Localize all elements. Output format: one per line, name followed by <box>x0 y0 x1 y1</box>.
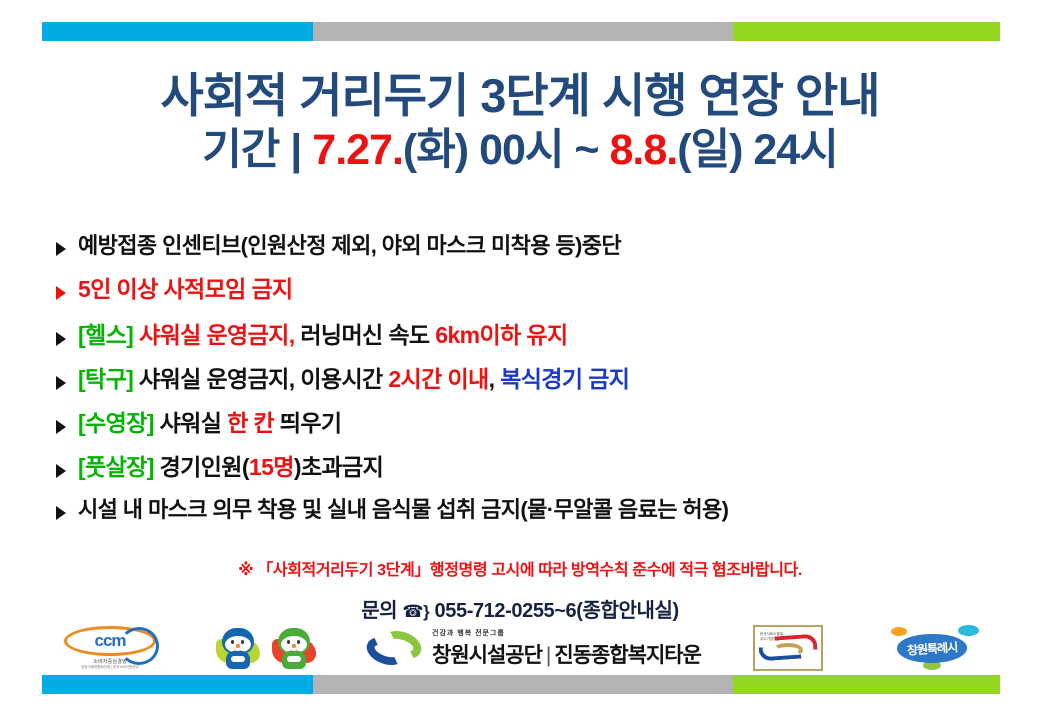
list-item: [풋살장] 경기인원(15명)초과금지 <box>56 448 986 482</box>
triangle-bullet-icon <box>56 332 66 346</box>
accent-segment-gray <box>313 675 733 694</box>
city-blob-icon: 창원특례시 <box>897 634 967 663</box>
ccm-caption-small: 공정거래위원회인증 | 한국소비자원운영 <box>64 665 156 670</box>
city-dot-orange <box>891 627 907 636</box>
text-segment: )초과금지 <box>294 454 383 480</box>
list-item-text: [헬스] 샤워실 운영금지, 러닝머신 속도 6km이하 유지 <box>78 316 568 350</box>
text-segment: 러닝머신 속도 <box>300 322 435 348</box>
list-item: 5인 이상 사적모임 금지 <box>56 270 986 304</box>
list-item: [수영장] 샤워실 한 칸 띄우기 <box>56 404 986 438</box>
contact-line: 문의 ☎} 055-712-0255~6(종합안내실) <box>0 594 1040 623</box>
top-accent-bar <box>42 22 1000 41</box>
period-label: 기간 | <box>202 126 312 174</box>
certificate-emblem-icon: 한국서비스품질우수기업인증 <box>753 625 823 671</box>
accent-segment-green <box>733 675 1000 694</box>
text-segment: 한 칸 <box>227 410 280 436</box>
telephone-icon: ☎} <box>402 602 429 621</box>
city-dot-cyan <box>958 625 979 636</box>
compliance-notice: ※ 「사회적거리두기 3단계」행정명령 고시에 따라 방역수칙 준수에 적극 협… <box>0 556 1040 580</box>
text-segment: 15명 <box>249 454 294 480</box>
list-item-text: 시설 내 마스크 의무 착용 및 실내 음식물 섭취 금지(물·무알콜 음료는 … <box>78 492 728 524</box>
rules-list: 예방접종 인센티브(인원산정 제외, 야외 마스크 미착용 등)중단 5인 이상… <box>56 228 986 534</box>
text-segment: 샤워실 <box>160 410 227 436</box>
contact-number: 055-712-0255~6(종합안내실) <box>435 600 679 622</box>
period-line: 기간 | 7.27.(화) 00시 ~ 8.8.(일) 24시 <box>0 125 1040 177</box>
triangle-bullet-icon <box>56 420 66 434</box>
triangle-bullet-icon <box>56 506 66 520</box>
facility-tag: [탁구] <box>78 366 139 392</box>
triangle-bullet-icon <box>56 464 66 478</box>
logo-strip: ccm 소비자중심경영 공정거래위원회인증 | 한국소비자원운영 <box>42 622 1000 674</box>
text-segment: 복식경기 금지 <box>500 366 629 392</box>
mascot-blue-icon <box>214 625 262 671</box>
page-title: 사회적 거리두기 3단계 시행 연장 안내 <box>0 68 1040 123</box>
facility-tag: [풋살장] <box>78 454 160 480</box>
changwon-facilities-logo: 건강과 행복 전문그룹 창원시설공단|진동종합복지타운 <box>366 628 701 669</box>
list-item-text: [풋살장] 경기인원(15명)초과금지 <box>78 448 383 482</box>
list-item: 예방접종 인센티브(인원산정 제외, 야외 마스크 미착용 등)중단 <box>56 228 986 260</box>
period-end-suffix: (일) 24시 <box>677 126 838 174</box>
title-block: 사회적 거리두기 3단계 시행 연장 안내 기간 | 7.27.(화) 00시 … <box>0 68 1040 177</box>
mascot-group <box>214 625 318 671</box>
accent-segment-blue <box>42 675 313 694</box>
org-name-text: 창원시설공단 <box>432 644 542 667</box>
ccm-wordmark: ccm <box>94 631 125 651</box>
org-tagline: 건강과 행복 전문그룹 <box>432 628 701 638</box>
period-end-date: 8.8. <box>609 126 677 174</box>
text-segment: 시설 내 마스크 의무 착용 및 실내 음식물 섭취 금지(물·무알콜 음료는 … <box>78 497 728 522</box>
text-segment: 샤워실 운영금지, 이용시간 <box>139 366 388 392</box>
text-segment: 샤워실 운영금지, <box>139 322 300 348</box>
triangle-bullet-icon <box>56 242 66 256</box>
period-start-date: 7.27. <box>312 126 403 174</box>
accent-segment-blue <box>42 22 313 41</box>
accent-segment-gray <box>313 22 733 41</box>
accent-segment-green <box>733 22 1000 41</box>
org-name: 창원시설공단|진동종합복지타운 <box>432 639 701 669</box>
triangle-bullet-icon <box>56 376 66 390</box>
list-item: [헬스] 샤워실 운영금지, 러닝머신 속도 6km이하 유지 <box>56 316 986 350</box>
ccm-logo: ccm 소비자중심경영 공정거래위원회인증 | 한국소비자원운영 <box>56 626 164 670</box>
list-item-text: 예방접종 인센티브(인원산정 제외, 야외 마스크 미착용 등)중단 <box>78 228 621 260</box>
text-segment: 경기인원( <box>160 454 249 480</box>
city-name: 창원특례시 <box>906 638 957 658</box>
org-separator: | <box>546 644 550 667</box>
text-segment: 6km이하 유지 <box>435 322 567 348</box>
text-segment: , <box>489 366 501 392</box>
list-item-text: 5인 이상 사적모임 금지 <box>78 270 293 304</box>
mascot-green-icon <box>270 625 318 671</box>
list-item-text: [수영장] 샤워실 한 칸 띄우기 <box>78 404 341 438</box>
list-item: 시설 내 마스크 의무 착용 및 실내 음식물 섭취 금지(물·무알콜 음료는 … <box>56 492 986 524</box>
triangle-bullet-icon <box>56 286 66 300</box>
text-segment: 예방접종 인센티브(인원산정 제외, 야외 마스크 미착용 등)중단 <box>78 233 621 258</box>
list-item-text: [탁구] 샤워실 운영금지, 이용시간 2시간 이내, 복식경기 금지 <box>78 360 629 394</box>
contact-label: 문의 <box>361 600 397 622</box>
facility-tag: [수영장] <box>78 410 160 436</box>
org-branch: 진동종합복지타운 <box>554 644 701 667</box>
poster-canvas: 사회적 거리두기 3단계 시행 연장 안내 기간 | 7.27.(화) 00시 … <box>0 0 1040 720</box>
swirl-icon <box>366 630 424 666</box>
period-middle: (화) 00시 ~ <box>403 126 610 174</box>
changwon-city-logo: 창원특례시 <box>885 625 981 671</box>
text-segment: 5인 이상 사적모임 금지 <box>78 276 293 302</box>
bottom-accent-bar <box>42 675 1000 694</box>
ccm-oval-icon: ccm <box>64 626 156 656</box>
facility-tag: [헬스] <box>78 322 139 348</box>
text-segment: 띄우기 <box>280 410 342 436</box>
text-segment: 2시간 이내 <box>388 366 488 392</box>
list-item: [탁구] 샤워실 운영금지, 이용시간 2시간 이내, 복식경기 금지 <box>56 360 986 394</box>
